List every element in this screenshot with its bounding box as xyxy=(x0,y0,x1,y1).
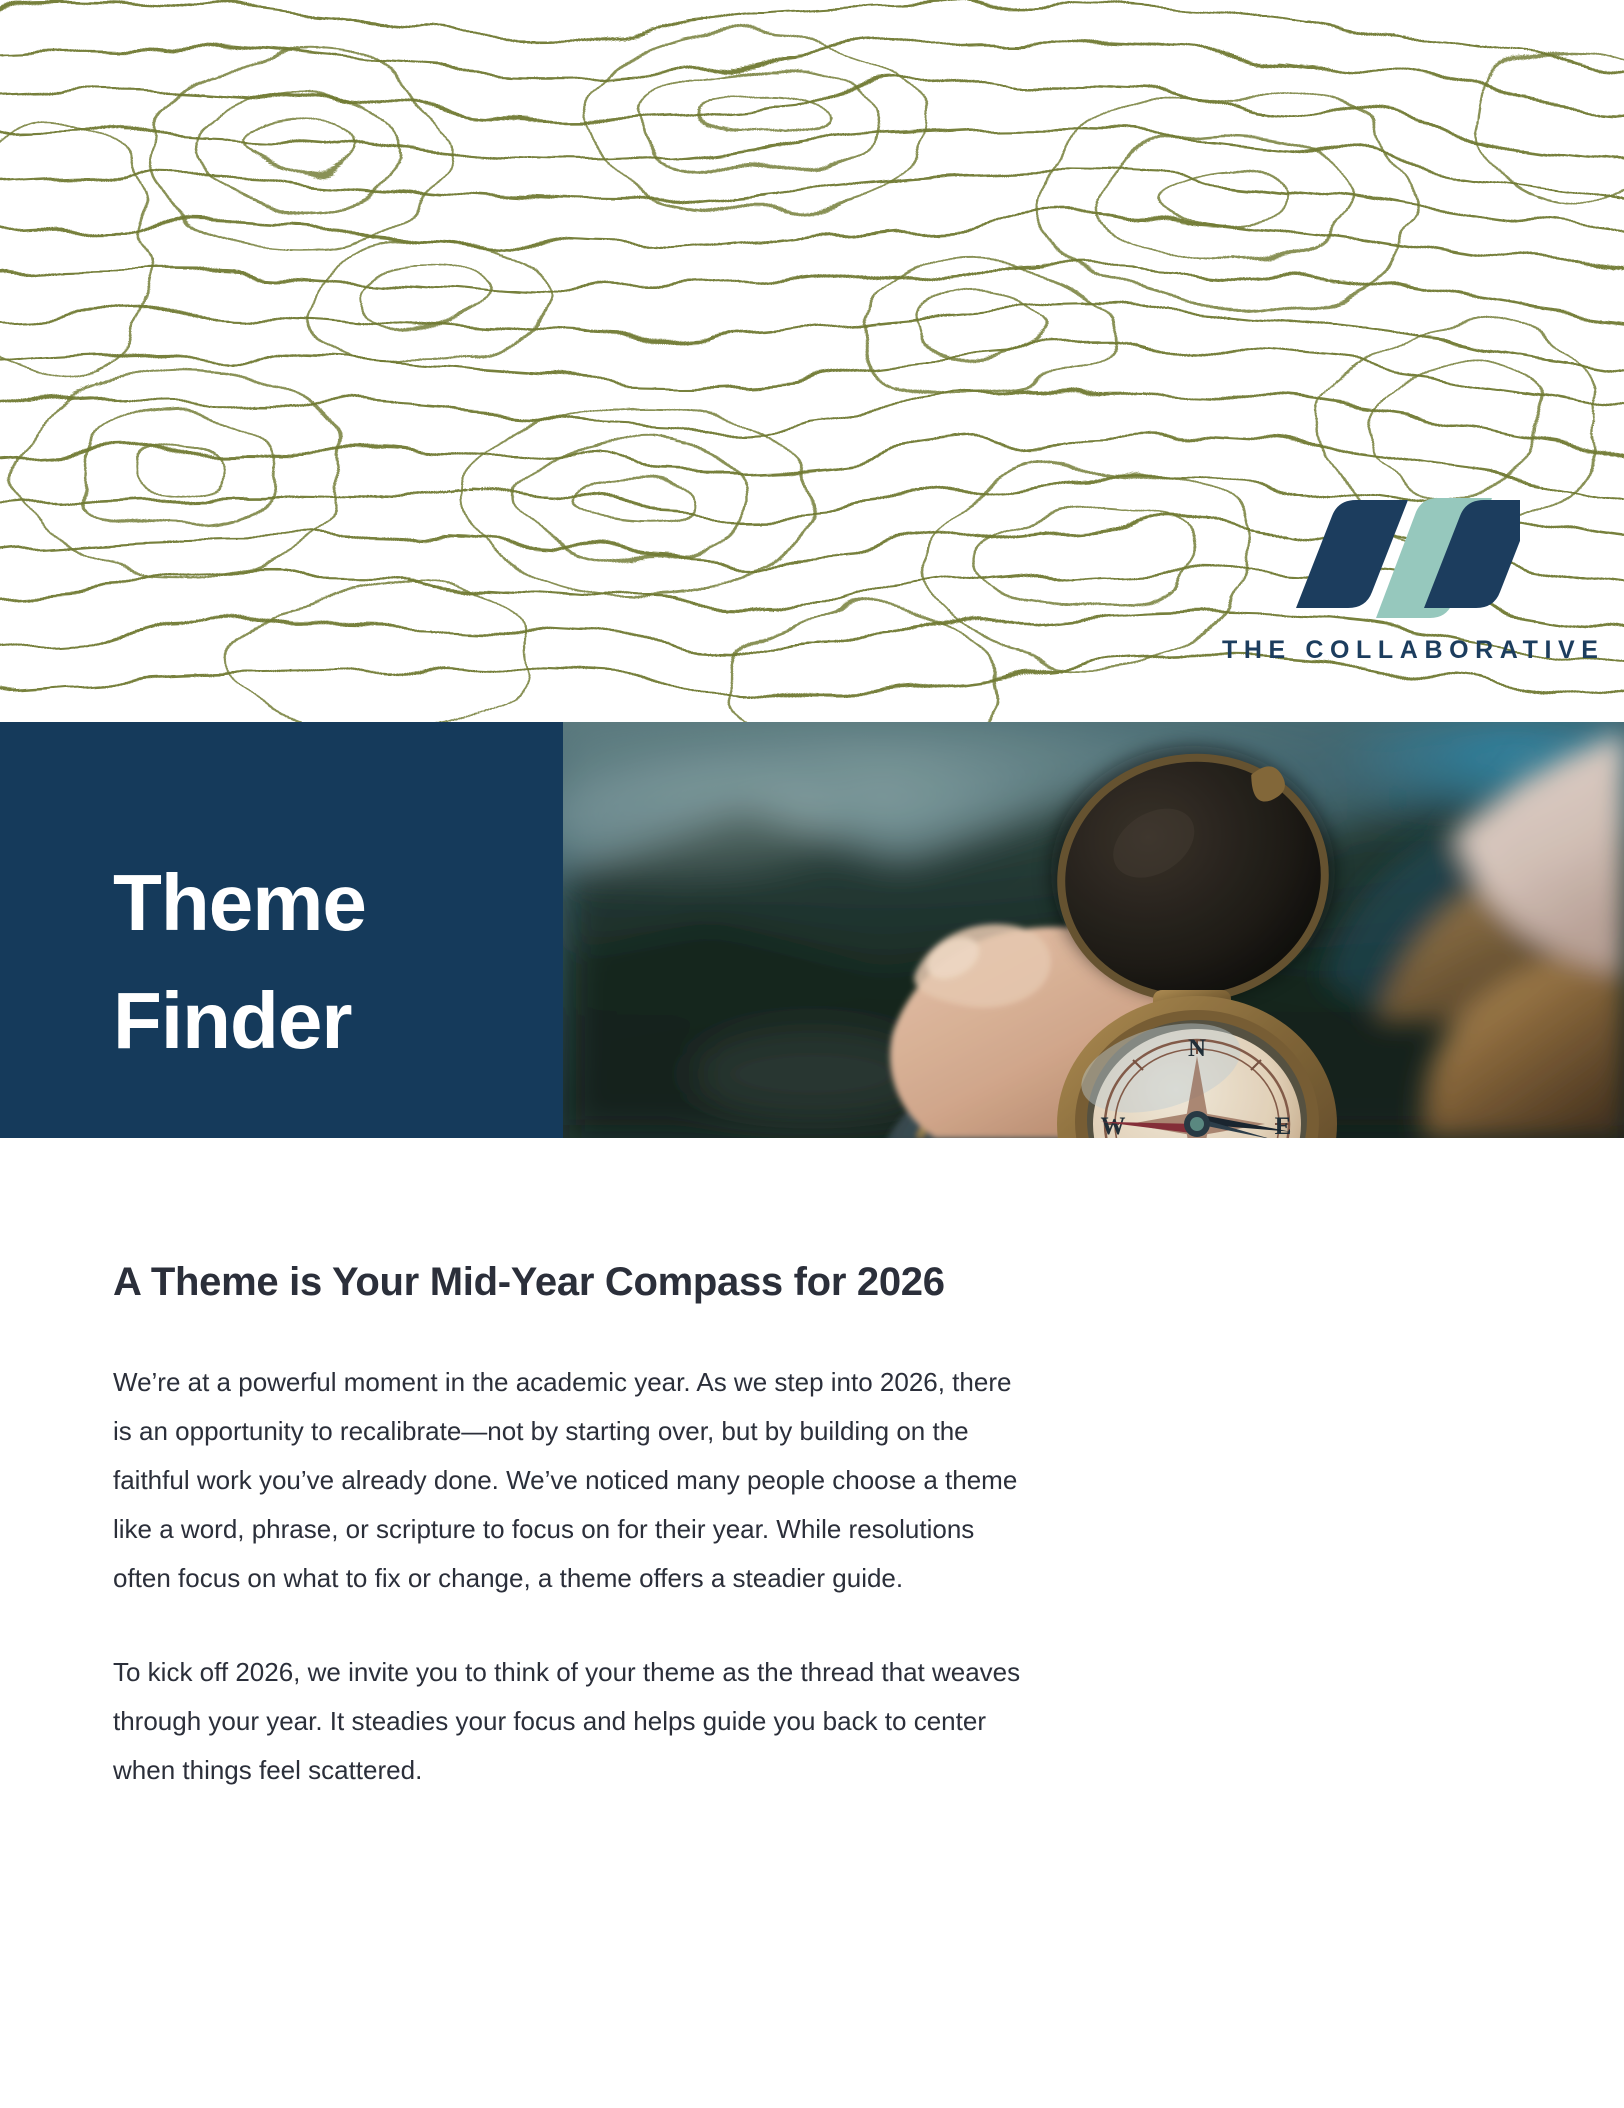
topographic-header-band: THE COLLABORATIVE xyxy=(0,0,1624,722)
hand-holding-compass-photo: N S E W xyxy=(563,722,1624,1138)
article-section: A Theme is Your Mid-Year Compass for 202… xyxy=(0,1138,1624,1795)
theme-finder-page: THE COLLABORATIVE Theme Finder xyxy=(0,0,1624,2108)
page-title-line-1: Theme xyxy=(113,844,366,962)
page-title-line-2: Finder xyxy=(113,962,366,1080)
article-paragraph: To kick off 2026, we invite you to think… xyxy=(113,1648,1028,1795)
hero-photo: N S E W xyxy=(563,722,1624,1138)
brand-logo: THE COLLABORATIVE xyxy=(1222,498,1562,678)
article-paragraph: We’re at a powerful moment in the academ… xyxy=(113,1358,1028,1602)
hero-band: Theme Finder xyxy=(0,722,1624,1138)
brand-wordmark: THE COLLABORATIVE xyxy=(1222,636,1562,665)
article-heading: A Theme is Your Mid-Year Compass for 202… xyxy=(113,1258,1073,1306)
article-inner: A Theme is Your Mid-Year Compass for 202… xyxy=(0,1138,1073,1795)
collaborative-slash-mark-icon xyxy=(1260,498,1520,618)
page-title: Theme Finder xyxy=(113,844,366,1081)
hero-title-block: Theme Finder xyxy=(0,722,563,1138)
